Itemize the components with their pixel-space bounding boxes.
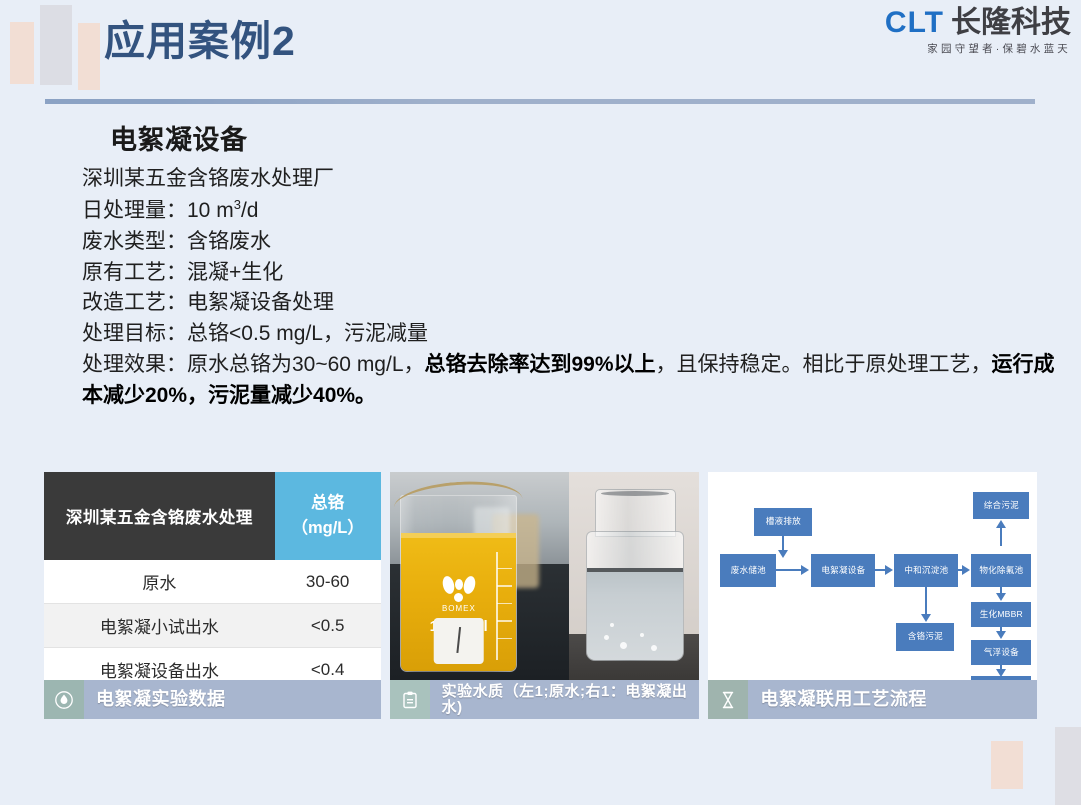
flow-node-neutralization-tank: 中和沉淀池: [894, 554, 958, 587]
beaker-brand-text: BOMEX: [401, 604, 516, 613]
experiment-data-table: 深圳某五金含铬废水处理 总铬 （mg/L） 原水 30-60 电絮凝小试出水: [44, 472, 381, 680]
beaker-tick: [497, 585, 512, 587]
brand-logo-wordmark: CLT长隆科技: [885, 8, 1071, 38]
flow-node-tank-discharge: 槽液排放: [754, 508, 812, 536]
jar-bubble: [651, 645, 657, 651]
table-row: 原水 30-60: [44, 560, 381, 604]
caption-label: 电絮凝联用工艺流程: [748, 680, 1037, 719]
arrowhead-right: [801, 565, 809, 575]
flow-node-wastewater-tank: 废水储池: [720, 554, 776, 587]
photo-raw-water-beaker: BOMEX 1000 ml: [390, 472, 570, 680]
caption-water-quality: 实验水质（左1;原水;右1：电絮凝出水): [390, 680, 700, 719]
jar-body: [586, 531, 684, 661]
photo-pair: BOMEX 1000 ml: [390, 472, 700, 680]
decor-bottom-gray: [1055, 727, 1081, 805]
jar-bubble: [620, 642, 627, 649]
table-header-name: 深圳某五金含铬废水处理: [44, 472, 275, 560]
jar-neck: [595, 489, 676, 537]
process-flow-diagram: 废水储池 槽液排放 电絮凝设备 中和沉淀池 含铬污泥 物化除氟池 综合污泥 生化…: [708, 472, 1037, 680]
caption-process-flow: 电絮凝联用工艺流程: [708, 680, 1037, 719]
flow-node-ec-device: 电絮凝设备: [811, 554, 875, 587]
arrowhead-down: [996, 593, 1006, 601]
line-plant: 深圳某五金含铬废水处理厂: [82, 164, 1042, 195]
caption-label: 电絮凝实验数据: [84, 680, 381, 719]
page-title: 应用案例2: [104, 18, 296, 65]
effect-prefix: 处理效果：原水总铬为30~60 mg/L，: [82, 353, 425, 376]
jar-rim: [601, 491, 669, 496]
panel-experiment-data: 深圳某五金含铬废水处理 总铬 （mg/L） 原水 30-60 电絮凝小试出水: [44, 472, 381, 719]
row-value: <0.5: [275, 604, 381, 648]
flow-node-flotation: 气浮设备: [971, 640, 1031, 665]
water-drop-circle-icon: [44, 680, 84, 719]
water-quality-photos-body: BOMEX 1000 ml: [390, 472, 700, 680]
clipboard-icon: [390, 680, 430, 719]
panel-process-flow: 废水储池 槽液排放 电絮凝设备 中和沉淀池 含铬污泥 物化除氟池 综合污泥 生化…: [708, 472, 1037, 719]
beaker-tick: [497, 568, 512, 570]
process-flow-body: 废水储池 槽液排放 电絮凝设备 中和沉淀池 含铬污泥 物化除氟池 综合污泥 生化…: [708, 472, 1037, 680]
row-name: 电絮凝小试出水: [44, 604, 275, 648]
hourglass-icon: [708, 680, 748, 719]
jar-glass: [586, 489, 682, 660]
line-treatment-goal: 处理目标：总铬<0.5 mg/L，污泥减量: [82, 319, 1042, 350]
effect-highlight-removal: 总铬去除率达到99%以上: [425, 353, 656, 376]
line-daily-capacity: 日处理量：10 m3/d: [82, 195, 1042, 227]
beaker-brand-mark-icon: [442, 576, 476, 602]
decor-bottom-peach: [991, 741, 1023, 789]
arrowhead-up: [996, 520, 1006, 528]
arrowhead-down: [778, 550, 788, 558]
table-row: 电絮凝小试出水 <0.5: [44, 604, 381, 648]
connector-tank-to-ec: [776, 569, 802, 571]
row-name: 原水: [44, 560, 275, 604]
flow-node-mbbr: 生化MBBR: [971, 602, 1031, 627]
brand-logo-latin: CLT: [885, 6, 944, 39]
table-body: 原水 30-60 电絮凝小试出水 <0.5 电絮凝设备出水 <0.4: [44, 560, 381, 680]
flow-node-composite-sludge: 综合污泥: [973, 492, 1029, 519]
table-header-metric: 总铬 （mg/L）: [275, 472, 381, 560]
connector-defluor-to-composite: [1000, 527, 1002, 546]
decor-bar-left-peach: [10, 22, 34, 84]
flow-node-defluorination-tank: 物化除氟池: [971, 554, 1031, 587]
row-name: 电絮凝设备出水: [44, 648, 275, 681]
panels-row: 深圳某五金含铬废水处理 总铬 （mg/L） 原水 30-60 电絮凝小试出水: [44, 472, 1037, 719]
connector-discharge-down: [782, 536, 784, 551]
capacity-unit-suffix: /d: [241, 199, 259, 222]
beaker-tick: [497, 638, 512, 640]
line-wastewater-type: 废水类型：含铬废水: [82, 227, 1042, 258]
capacity-label: 日处理量：: [82, 199, 187, 222]
line-upgraded-process: 改造工艺：电絮凝设备处理: [82, 288, 1042, 319]
arrowhead-down: [996, 669, 1006, 677]
jar-clear-water: [587, 568, 683, 660]
metric-unit: （mg/L）: [276, 516, 380, 541]
caption-experiment-data: 电絮凝实验数据: [44, 680, 381, 719]
row-value: 30-60: [275, 560, 381, 604]
line-treatment-effect: 处理效果：原水总铬为30~60 mg/L，总铬去除率达到99%以上，且保持稳定。…: [82, 350, 1057, 412]
table-row: 电絮凝设备出水 <0.4: [44, 648, 381, 681]
decor-bar-middle-gray: [40, 5, 72, 85]
flow-node-chrome-sludge: 含铬污泥: [896, 623, 954, 651]
title-divider: [45, 99, 1035, 104]
arrowhead-down: [921, 614, 931, 622]
case-description: 电絮凝设备 深圳某五金含铬废水处理厂 日处理量：10 m3/d 废水类型：含铬废…: [82, 118, 1042, 412]
table-head: 深圳某五金含铬废水处理 总铬 （mg/L）: [44, 472, 381, 560]
arrowhead-right: [962, 565, 970, 575]
brand-logo-tagline: 家园守望者·保碧水蓝天: [885, 44, 1071, 55]
caption-label: 实验水质（左1;原水;右1：电絮凝出水): [430, 680, 700, 719]
arrowhead-right: [885, 565, 893, 575]
panel-water-quality-photos: BOMEX 1000 ml: [390, 472, 700, 719]
brand-logo-chinese: 长隆科技: [951, 6, 1071, 39]
decor-bar-right-peach: [78, 23, 100, 90]
line-original-process: 原有工艺：混凝+生化: [82, 258, 1042, 289]
capacity-value: 10 m: [187, 199, 234, 222]
connector-neutral-to-sludge: [925, 587, 927, 615]
beaker-glass: BOMEX 1000 ml: [400, 495, 517, 672]
photo-treated-water-jar: [569, 472, 699, 680]
table-header-row: 深圳某五金含铬废水处理 总铬 （mg/L）: [44, 472, 381, 560]
section-subtitle: 电絮凝设备: [110, 118, 1042, 157]
capacity-exponent: 3: [234, 197, 241, 212]
beaker-sticker: [434, 618, 485, 663]
brand-logo: CLT长隆科技 家园守望者·保碧水蓝天: [885, 8, 1071, 55]
row-value: <0.4: [275, 648, 381, 681]
metric-title: 总铬: [276, 491, 380, 516]
effect-middle: ，且保持稳定。相比于原处理工艺，: [656, 353, 992, 376]
arrowhead-down: [996, 631, 1006, 639]
experiment-data-body: 深圳某五金含铬废水处理 总铬 （mg/L） 原水 30-60 电絮凝小试出水: [44, 472, 381, 680]
